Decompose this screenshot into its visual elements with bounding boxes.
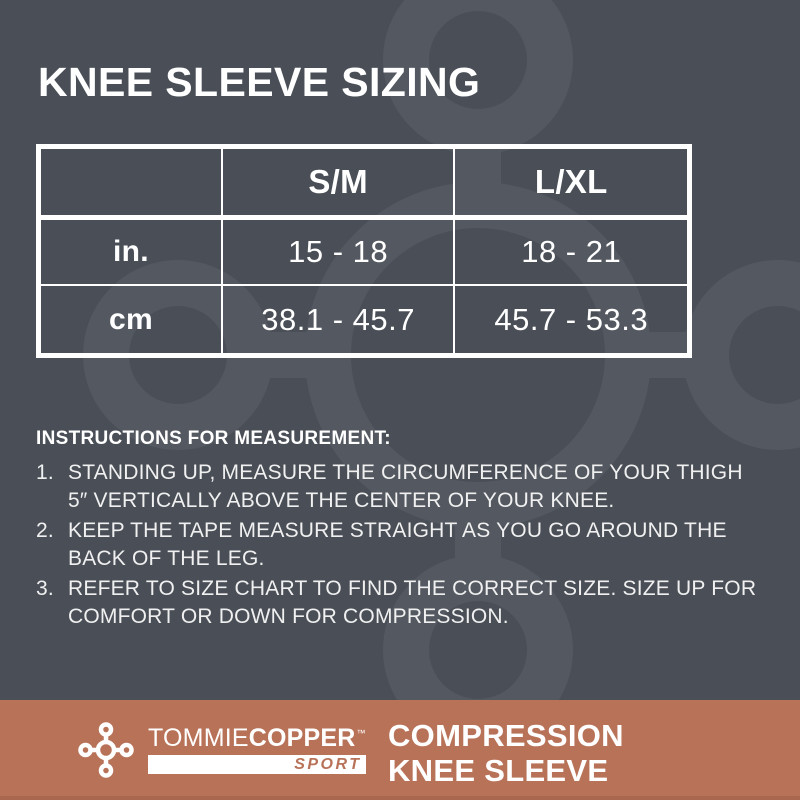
- instruction-item: 1. STANDING UP, MEASURE THE CIRCUMFERENC…: [36, 459, 766, 515]
- cell-inches-sm: 15 - 18: [222, 217, 455, 285]
- knee-sleeve-sizing-chart: KNEE SLEEVE SIZING S/M L/XL in. 15 - 18 …: [0, 0, 800, 800]
- instruction-item: 2. KEEP THE TAPE MEASURE STRAIGHT AS YOU…: [36, 517, 766, 573]
- instruction-number: 2.: [36, 517, 60, 545]
- brand-wordmark: TOMMIECOPPER™ SPORT: [148, 726, 366, 774]
- cell-inches-lxl: 18 - 21: [454, 217, 687, 285]
- product-name-line2: KNEE SLEEVE: [388, 754, 624, 789]
- molecule-icon: [78, 722, 134, 778]
- brand-banner: TOMMIECOPPER™ SPORT COMPRESSION KNEE SLE…: [0, 700, 800, 800]
- instruction-text: KEEP THE TAPE MEASURE STRAIGHT AS YOU GO…: [68, 519, 727, 570]
- instructions-list: 1. STANDING UP, MEASURE THE CIRCUMFERENC…: [36, 459, 766, 631]
- instructions-heading: INSTRUCTIONS FOR MEASUREMENT:: [36, 428, 766, 450]
- product-name: COMPRESSION KNEE SLEEVE: [388, 719, 624, 788]
- brand-sub-bar: SPORT: [148, 755, 366, 774]
- banner-bottom-edge: [0, 796, 800, 800]
- table-header-row: S/M L/XL: [41, 149, 687, 217]
- trademark-symbol: ™: [357, 729, 366, 738]
- instructions-section: INSTRUCTIONS FOR MEASUREMENT: 1. STANDIN…: [36, 428, 766, 633]
- page-title: KNEE SLEEVE SIZING: [38, 62, 480, 103]
- instruction-number: 3.: [36, 575, 60, 603]
- table-row-cm: cm 38.1 - 45.7 45.7 - 53.3: [41, 285, 687, 353]
- row-label-cm: cm: [41, 285, 222, 353]
- product-name-line1: COMPRESSION: [388, 719, 624, 754]
- table-header-corner: [41, 149, 222, 217]
- table-header-sm: S/M: [222, 149, 455, 217]
- cell-cm-sm: 38.1 - 45.7: [222, 285, 455, 353]
- brand-logo: TOMMIECOPPER™ SPORT: [78, 722, 366, 778]
- brand-name-bold: COPPER: [249, 726, 356, 751]
- size-chart-table: S/M L/XL in. 15 - 18 18 - 21 cm 38.1 - 4…: [36, 144, 692, 358]
- instruction-item: 3. REFER TO SIZE CHART TO FIND THE CORRE…: [36, 575, 766, 631]
- background-watermark: [0, 0, 800, 800]
- instruction-number: 1.: [36, 459, 60, 487]
- cell-cm-lxl: 45.7 - 53.3: [454, 285, 687, 353]
- brand-sub-label: SPORT: [294, 757, 361, 773]
- table-header-lxl: L/XL: [454, 149, 687, 217]
- table-row-inches: in. 15 - 18 18 - 21: [41, 217, 687, 285]
- row-label-inches: in.: [41, 217, 222, 285]
- brand-name-light: TOMMIE: [148, 726, 249, 751]
- instruction-text: STANDING UP, MEASURE THE CIRCUMFERENCE O…: [68, 461, 743, 512]
- instruction-text: REFER TO SIZE CHART TO FIND THE CORRECT …: [68, 577, 756, 628]
